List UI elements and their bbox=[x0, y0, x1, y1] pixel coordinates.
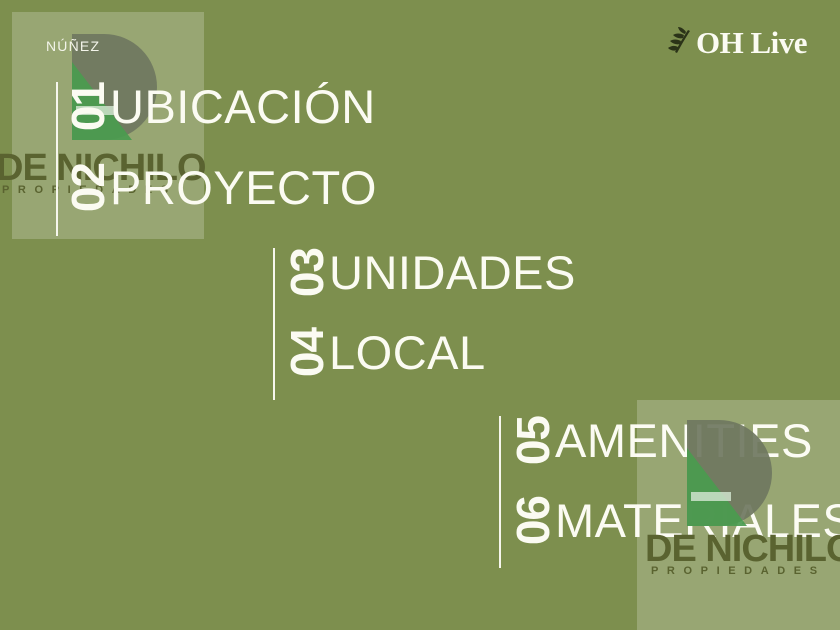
group-divider-line bbox=[499, 416, 501, 568]
menu-item-local[interactable]: 04 LOCAL bbox=[285, 328, 486, 377]
slide-canvas: DE NICHILO PROPIEDADES NÚÑEZ OH Live 01 bbox=[0, 0, 840, 630]
menu-item-number: 03 bbox=[284, 248, 330, 297]
group-divider-line bbox=[273, 248, 275, 400]
olive-branch-icon bbox=[668, 27, 694, 57]
de-nichilo-d-logo bbox=[647, 408, 777, 538]
menu-item-label: PROYECTO bbox=[110, 164, 377, 211]
menu-item-ubicacion[interactable]: 01 UBICACIÓN bbox=[66, 82, 376, 131]
brand-logo[interactable]: OH Live bbox=[668, 24, 807, 60]
watermark-bottom-right: DE NICHILO PROPIEDADES bbox=[637, 400, 840, 630]
brand-name: OH Live bbox=[696, 27, 807, 58]
menu-item-number: 01 bbox=[65, 82, 111, 131]
menu-item-label: LOCAL bbox=[329, 329, 486, 376]
watermark-tagline: PROPIEDADES bbox=[651, 565, 826, 577]
menu-item-number: 05 bbox=[510, 416, 556, 465]
menu-item-unidades[interactable]: 03 UNIDADES bbox=[285, 248, 576, 297]
menu-item-number: 04 bbox=[284, 328, 330, 377]
menu-item-proyecto[interactable]: 02 PROYECTO bbox=[66, 163, 377, 212]
menu-item-number: 06 bbox=[510, 496, 556, 545]
menu-item-label: UBICACIÓN bbox=[110, 83, 376, 130]
location-label: NÚÑEZ bbox=[46, 38, 100, 54]
menu-item-label: UNIDADES bbox=[329, 249, 576, 296]
group-divider-line bbox=[56, 82, 58, 236]
menu-item-number: 02 bbox=[65, 163, 111, 212]
